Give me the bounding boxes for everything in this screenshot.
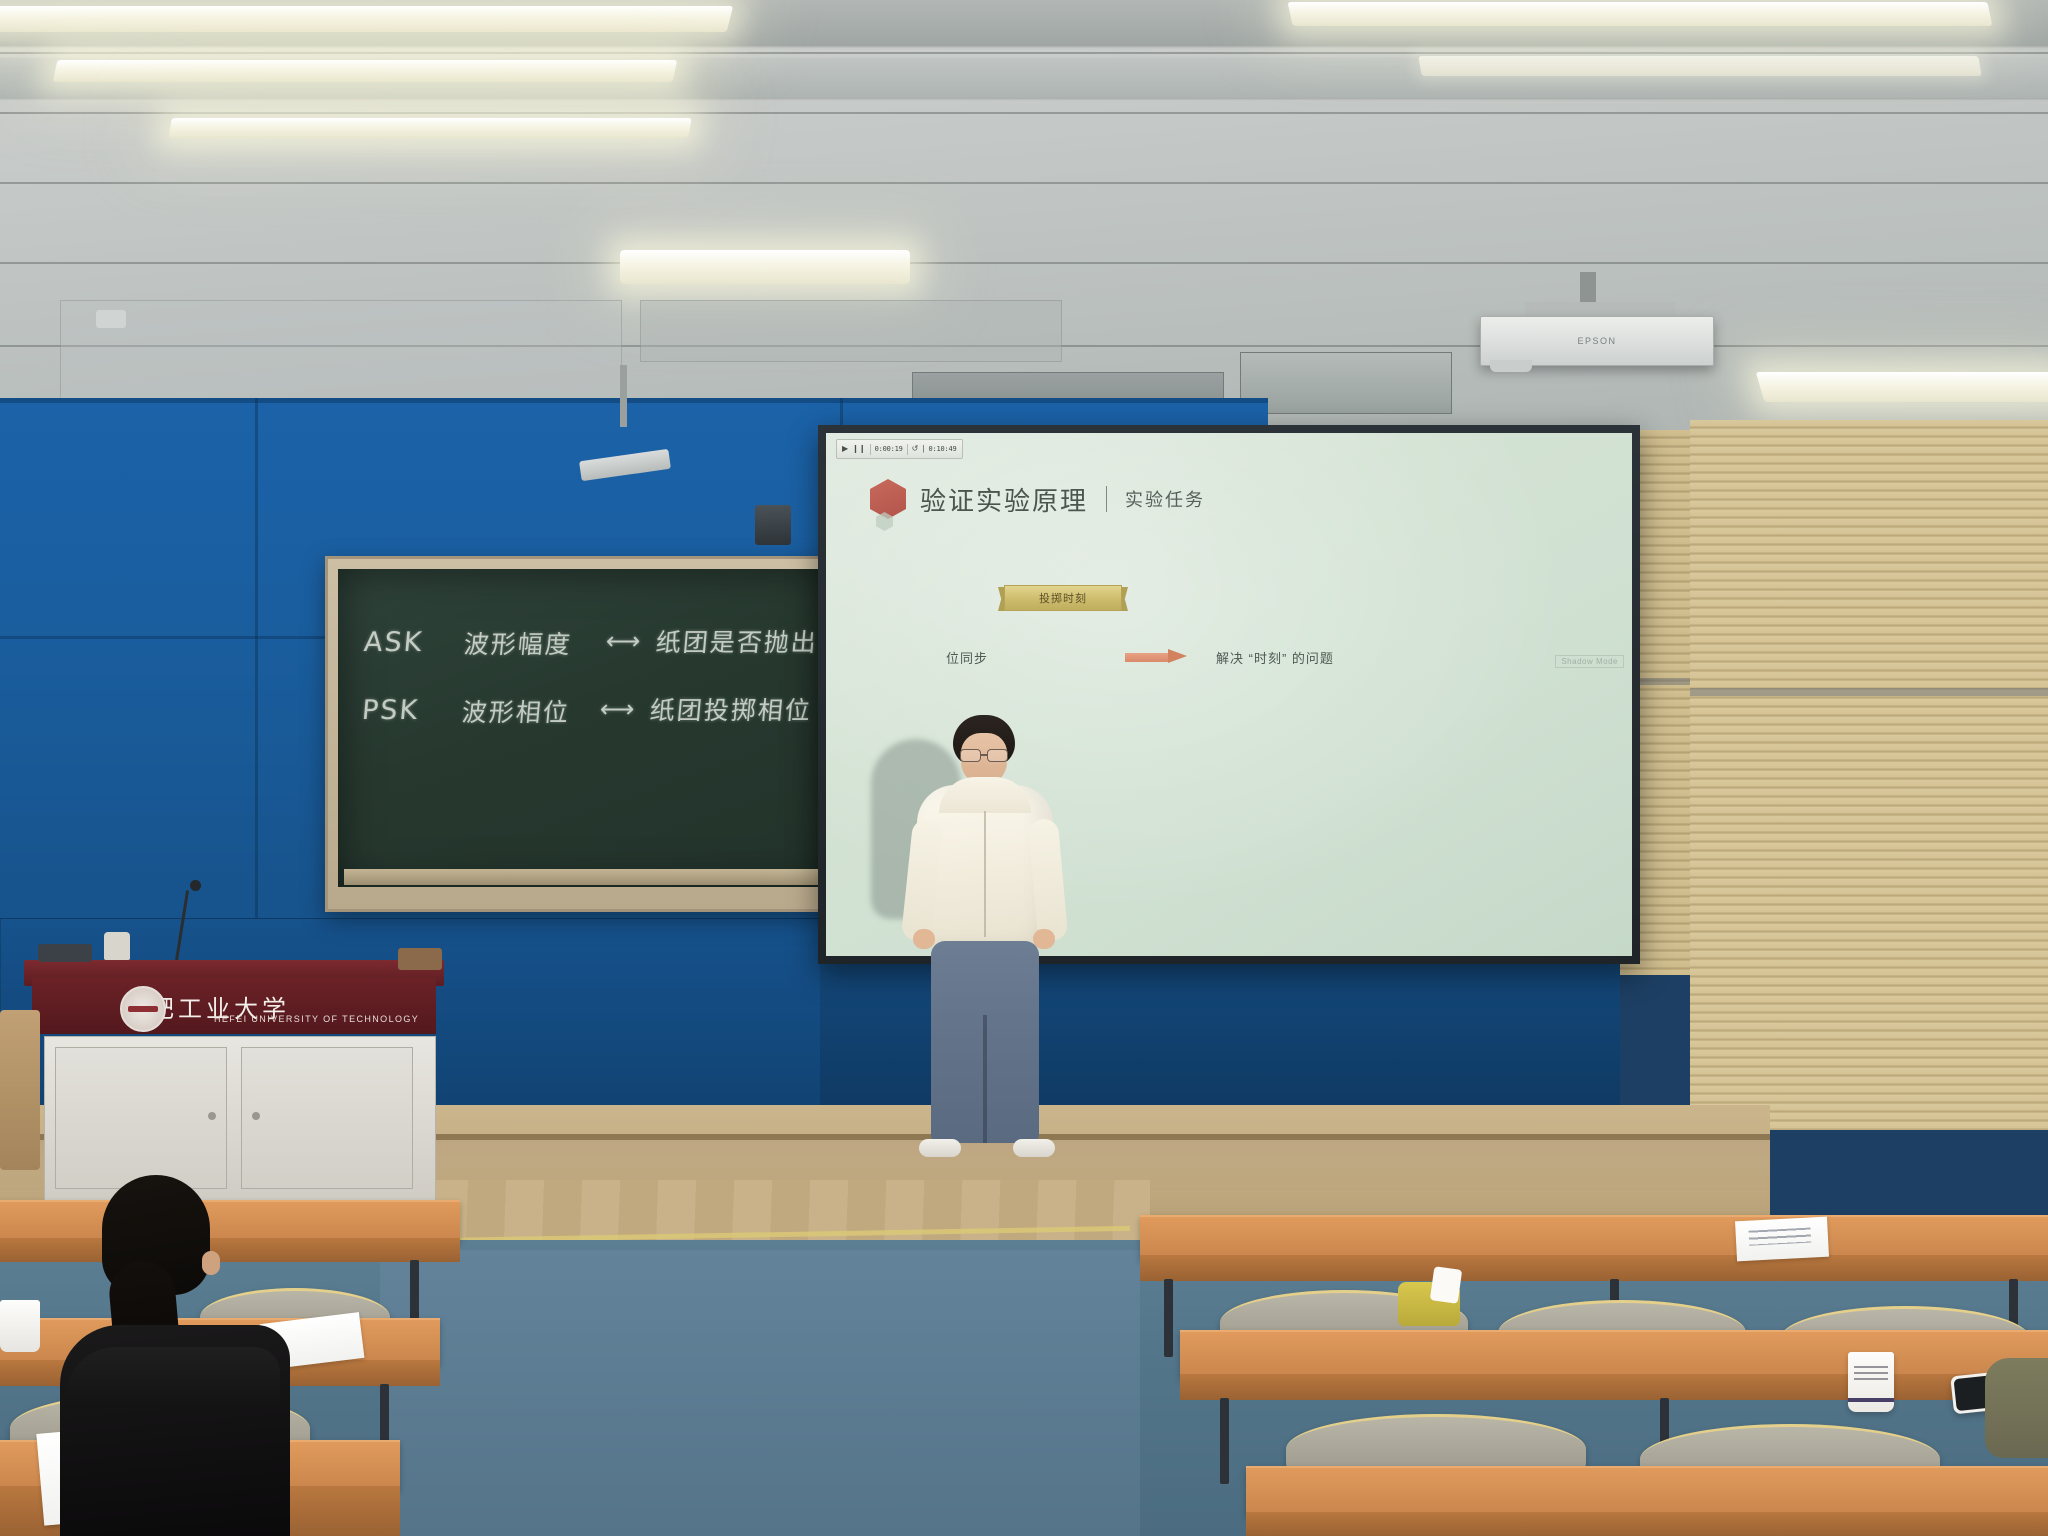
floor-aisle (380, 1250, 1140, 1536)
slide-playback-toolbar[interactable]: ▶ ❙❙ 0:00:19 ↺ | 0:10:49 (836, 439, 963, 459)
flow-left-text: 位同步 (946, 648, 1096, 667)
podium-door-left[interactable] (55, 1047, 227, 1189)
microphone-icon (190, 880, 201, 891)
podium: 合肥工业大学 HEFEI UNIVERSITY OF TECHNOLOGY (24, 960, 444, 1200)
slide-subtitle: 实验任务 (1125, 486, 1205, 512)
ceiling-light (53, 60, 678, 82)
projector-brand-label: EPSON (1577, 336, 1616, 346)
ceiling-light (1418, 56, 1982, 76)
toolbar-divider (870, 444, 871, 455)
ceiling-light (1756, 372, 2048, 402)
handout-paper[interactable] (1735, 1217, 1829, 1262)
slide-banner: 投掷时刻 (998, 585, 1128, 611)
chalk-ask-left: 波形幅度 (462, 625, 573, 661)
ceiling-light (0, 6, 733, 32)
podium-cup (104, 932, 130, 960)
side-chair[interactable] (0, 1010, 40, 1170)
chalk-ask-arrow: ⟷ (605, 627, 644, 655)
person-sleeve (1985, 1358, 2048, 1458)
toolbar-divider (907, 444, 908, 455)
paper-cup[interactable] (1848, 1352, 1894, 1412)
presenter-shoe-right (1013, 1139, 1055, 1157)
presenter-hand-left (913, 929, 935, 949)
glasses-icon (959, 749, 1009, 760)
flow-right-text: 解决 “时刻” 的问题 (1216, 648, 1334, 667)
play-icon[interactable]: ▶ (842, 445, 848, 453)
university-seal-icon (120, 986, 166, 1032)
podium-item (398, 948, 442, 970)
slide-flow-row: 位同步 解决 “时刻” 的问题 (946, 648, 1506, 667)
chalk-psk-left: 波形相位 (460, 693, 571, 729)
slide-title: 验证实验原理 (920, 481, 1088, 518)
chalk-tray (344, 869, 822, 885)
toolbar-pipe: | (922, 445, 924, 453)
seated-student (60, 1175, 290, 1536)
student-ear (202, 1251, 220, 1275)
ceiling-light-panel (620, 250, 910, 284)
banner-label: 投掷时刻 (1004, 585, 1122, 611)
classroom-photo: ASK 波形幅度 ⟷ 纸团是否抛出 PSK 波形相位 ⟷ 纸团投掷相位 EPSO… (0, 0, 2048, 1536)
slide-title-divider (1106, 486, 1107, 512)
wall-device-box (755, 505, 791, 545)
projector: EPSON (1480, 316, 1714, 366)
podium-door-right[interactable] (241, 1047, 413, 1189)
hexagon-icon (870, 479, 906, 519)
blackboard: ASK 波形幅度 ⟷ 纸团是否抛出 PSK 波形相位 ⟷ 纸团投掷相位 (325, 556, 841, 912)
ceiling-light (1287, 2, 1992, 26)
elapsed-time: 0:00:19 (875, 445, 903, 453)
flow-arrow-icon (1096, 651, 1216, 664)
chalk-ask-right: 纸团是否抛出 (654, 623, 819, 659)
chalk-psk-arrow: ⟷ (599, 695, 638, 723)
jacket-zipper (984, 811, 986, 937)
ceiling (0, 0, 2048, 430)
ceiling-light (168, 118, 692, 138)
slide-watermark: Shadow Mode (1555, 655, 1624, 668)
slide-header: 验证实验原理 实验任务 (870, 479, 1205, 519)
university-name-en: HEFEI UNIVERSITY OF TECHNOLOGY (214, 1014, 419, 1024)
pause-icon[interactable]: ❙❙ (852, 445, 865, 453)
desk-row-front-right[interactable] (1246, 1466, 2048, 1536)
paper-cup-left[interactable] (0, 1300, 40, 1352)
projector-lens-icon (1490, 360, 1532, 372)
student-shoulders (66, 1347, 280, 1407)
presenter-shoe-left (919, 1139, 961, 1157)
podium-name-band: 合肥工业大学 (32, 978, 436, 1034)
total-time: 0:10:49 (928, 445, 956, 453)
wood-wall-right (1690, 420, 2048, 1130)
chalk-label-ask: ASK (363, 627, 425, 658)
camera-pole (620, 365, 627, 427)
reset-icon[interactable]: ↺ (912, 445, 919, 453)
jeans-seam (983, 1015, 987, 1143)
projector-plate (1525, 302, 1675, 316)
presenter (905, 715, 1065, 1175)
ceiling-speaker-icon (96, 310, 126, 328)
chalk-label-psk: PSK (361, 695, 421, 726)
tissue-pack[interactable] (1430, 1266, 1462, 1304)
podium-equipment (38, 944, 92, 962)
chalk-psk-right: 纸团投掷相位 (648, 691, 813, 727)
